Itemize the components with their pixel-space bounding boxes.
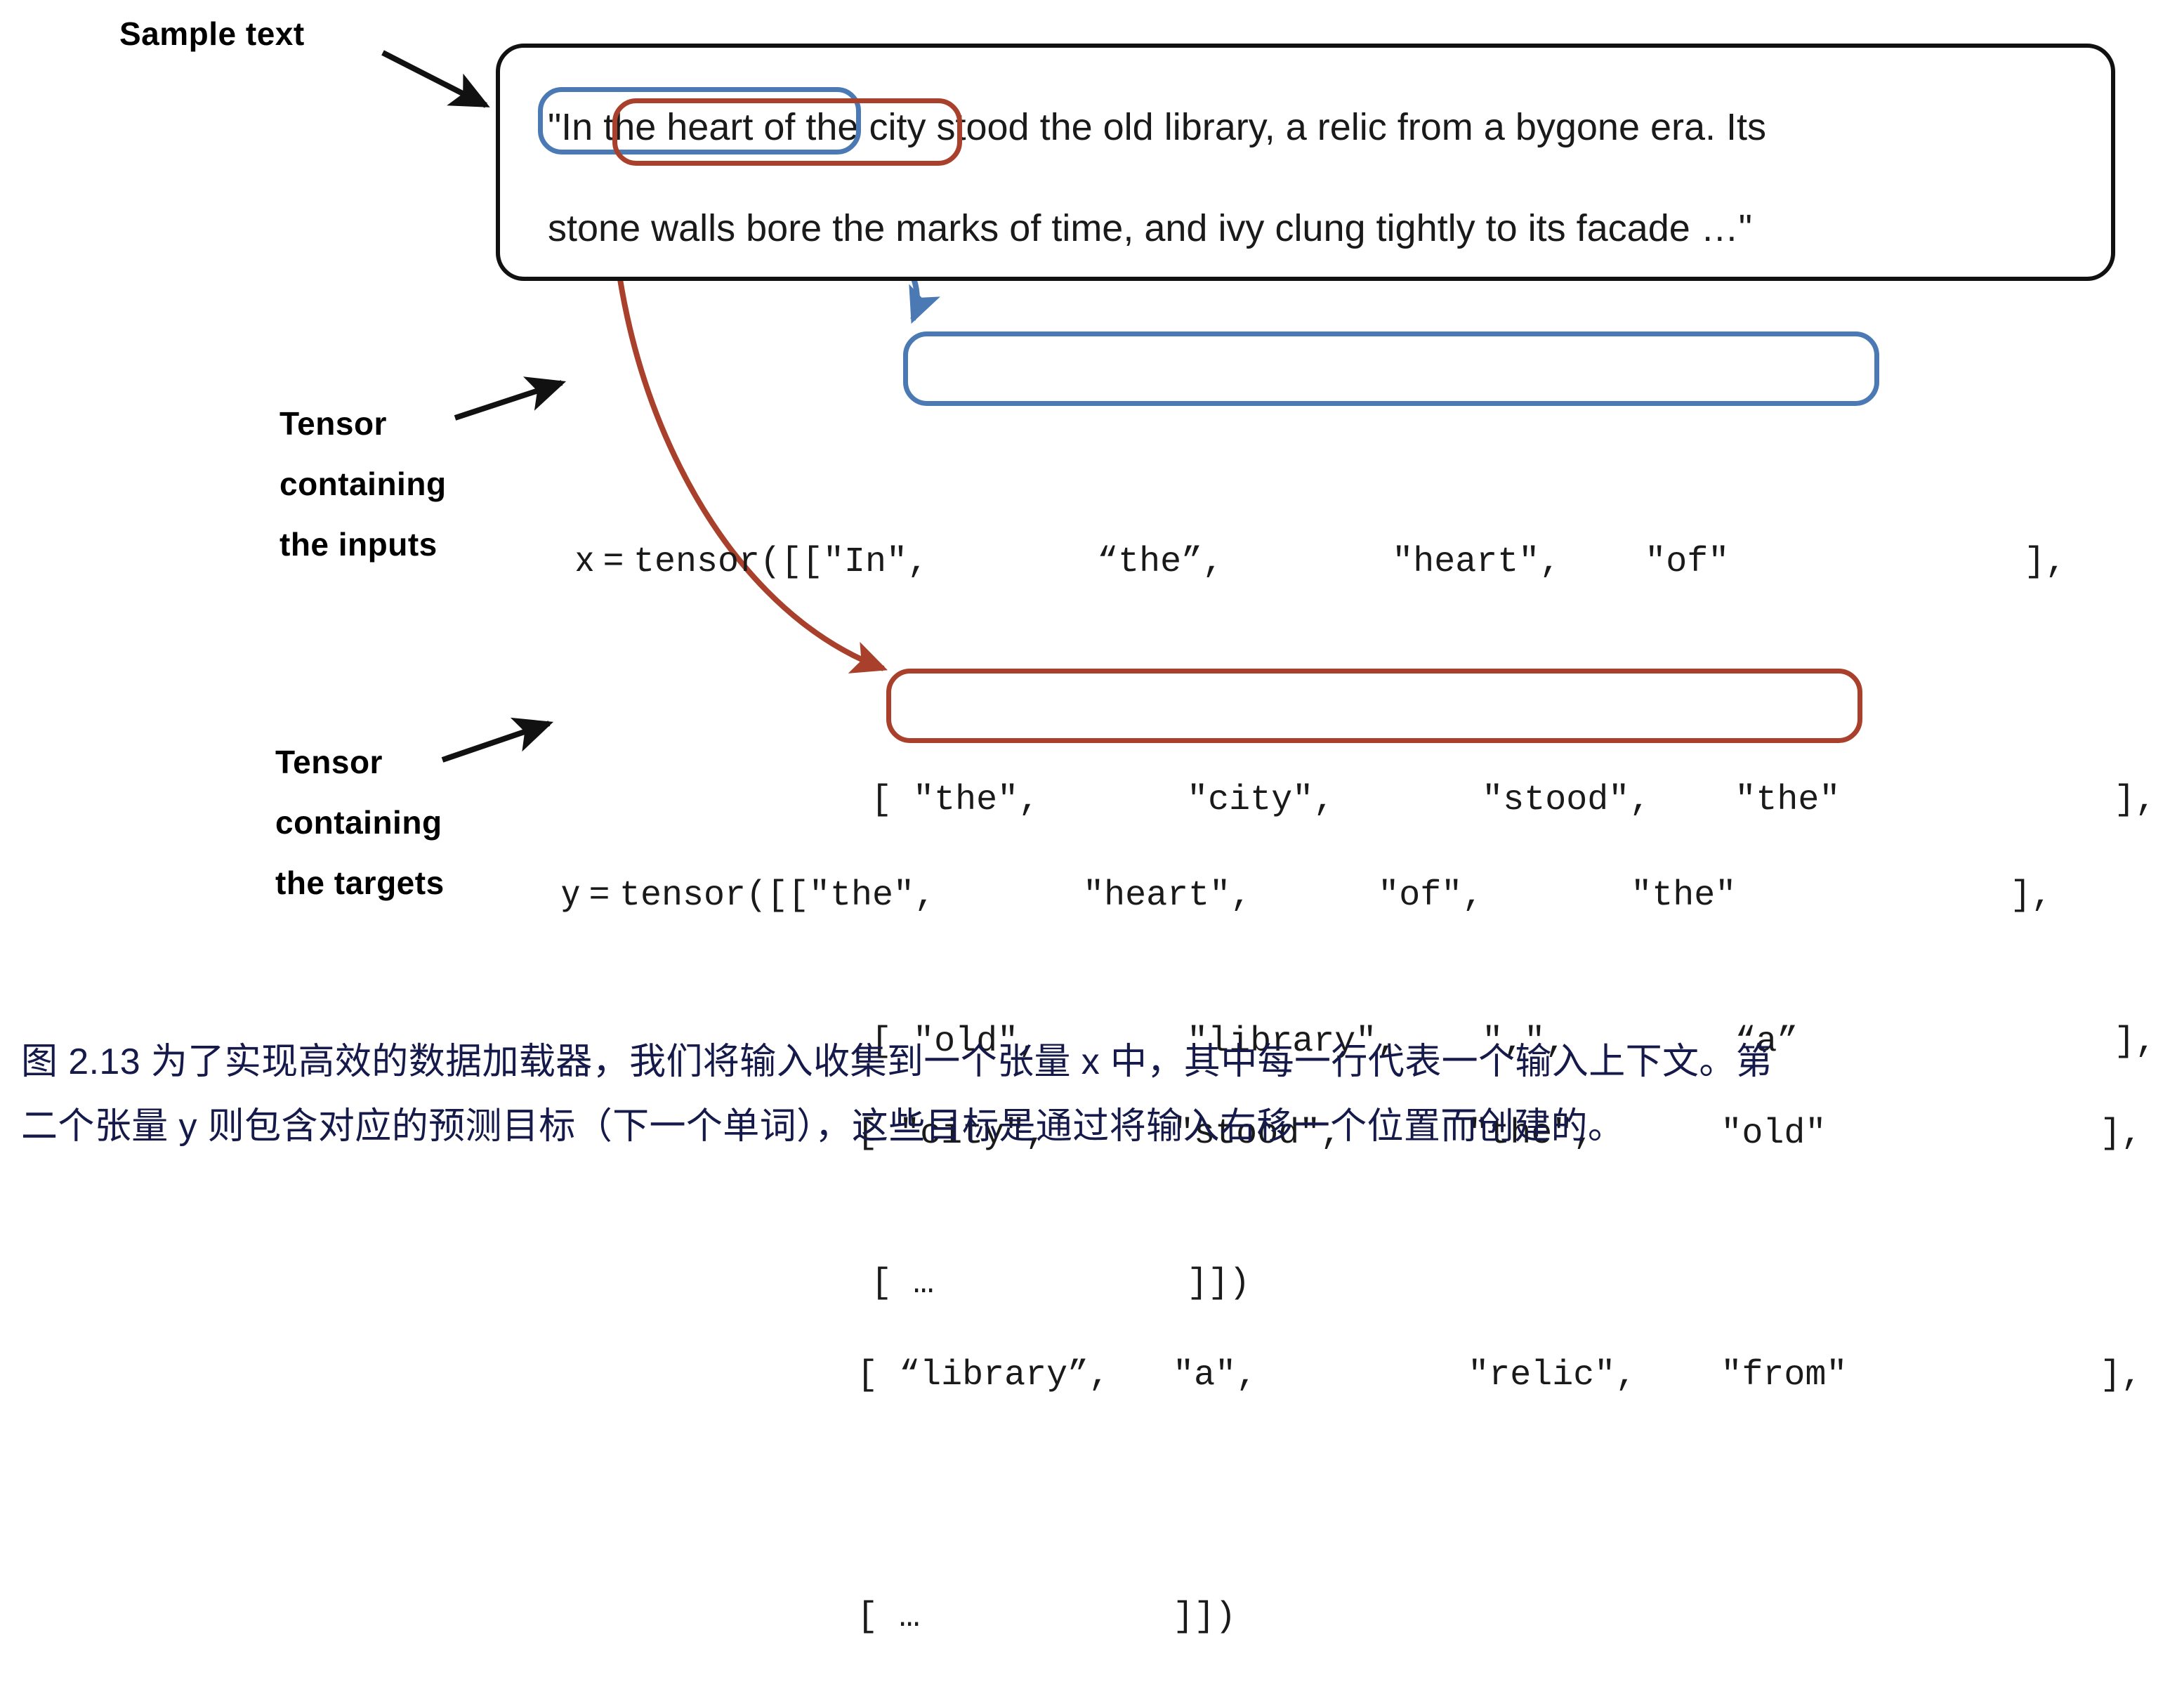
y-r0-c0: "the", xyxy=(809,876,1083,916)
tensor-targets-label-line-1: Tensor xyxy=(275,732,383,792)
x-r0-c3: "of" xyxy=(1645,542,2024,582)
y-r3-c0: … xyxy=(899,1597,1173,1637)
figure-caption-line-2: 二个张量 y 则包含对应的预测目标（下一个单词），这些目标是通过将输入右移一个位… xyxy=(21,1094,2156,1159)
y-r2-c0: “library”, xyxy=(899,1355,1173,1395)
y-assign-op: = xyxy=(579,873,619,912)
y-r3-indent xyxy=(562,1597,857,1637)
y-r0-c3: "the" xyxy=(1631,876,2010,916)
sample-text-label: Sample text xyxy=(119,4,305,64)
y-r3-close: ]]) xyxy=(1173,1597,1236,1637)
y-r0-close: ], xyxy=(2010,876,2052,916)
figure-caption: 图 2.13 为了实现高效的数据加载器，我们将输入收集到一个张量 x 中，其中每… xyxy=(21,1030,2156,1159)
x-assign-op: = xyxy=(593,539,633,579)
y-r3-open: [ xyxy=(857,1597,899,1637)
y-var-name: y xyxy=(562,873,579,912)
tensor-targets-label-line-2: containing xyxy=(275,792,442,853)
tensor-inputs-label-line-2: containing xyxy=(280,454,447,514)
sample-highlight-target-window xyxy=(612,98,962,166)
arrow-to-sample-box xyxy=(383,53,486,105)
tensor-inputs-label-line-1: Tensor xyxy=(280,393,387,454)
y-tensor-first-row-highlight xyxy=(886,669,1862,743)
y-r2-c2: "relic", xyxy=(1468,1355,1721,1395)
sample-text-line-2: stone walls bore the marks of time, and … xyxy=(548,206,1752,250)
tensor-targets-label-line-3: the targets xyxy=(275,853,445,913)
y-r2-close: ], xyxy=(2100,1355,2142,1395)
x-tensor-call: tensor([[ xyxy=(633,542,823,582)
y-tensor-call: tensor([[ xyxy=(619,876,809,916)
y-r0-c1: "heart", xyxy=(1083,876,1378,916)
y-r2-indent xyxy=(562,1355,857,1395)
y-r2-c1: "a", xyxy=(1173,1355,1468,1395)
arrow-to-x-tensor xyxy=(455,383,562,418)
y-r2-open: [ xyxy=(857,1355,899,1395)
x-r0-c0: "In", xyxy=(823,542,1097,582)
x-r0-c2: "heart", xyxy=(1392,542,1645,582)
y-tensor-row-3: [ … ]]) xyxy=(562,1587,2142,1648)
y-tensor-row-2: [ “library”, "a", "relic", "from" ], xyxy=(562,1346,2142,1406)
y-r2-c3: "from" xyxy=(1721,1355,2100,1395)
y-r0-c2: "of", xyxy=(1378,876,1631,916)
x-tensor-row-0: x = tensor([["In", “the”, "heart", "of" … xyxy=(576,529,2156,589)
y-tensor-row-0: y = tensor([["the", "heart", "of", "the"… xyxy=(562,862,2142,923)
x-var-name: x xyxy=(576,539,593,579)
x-r0-close: ], xyxy=(2024,542,2066,582)
x-r0-c1: “the”, xyxy=(1097,542,1392,582)
tensor-inputs-label-line-3: the inputs xyxy=(280,514,438,574)
x-tensor-first-row-highlight xyxy=(903,331,1879,406)
figure-caption-line-1: 图 2.13 为了实现高效的数据加载器，我们将输入收集到一个张量 x 中，其中每… xyxy=(21,1030,2156,1094)
y-tensor-code: y = tensor([["the", "heart", "of", "the"… xyxy=(562,681,2142,1708)
arrow-to-y-tensor xyxy=(442,723,549,760)
